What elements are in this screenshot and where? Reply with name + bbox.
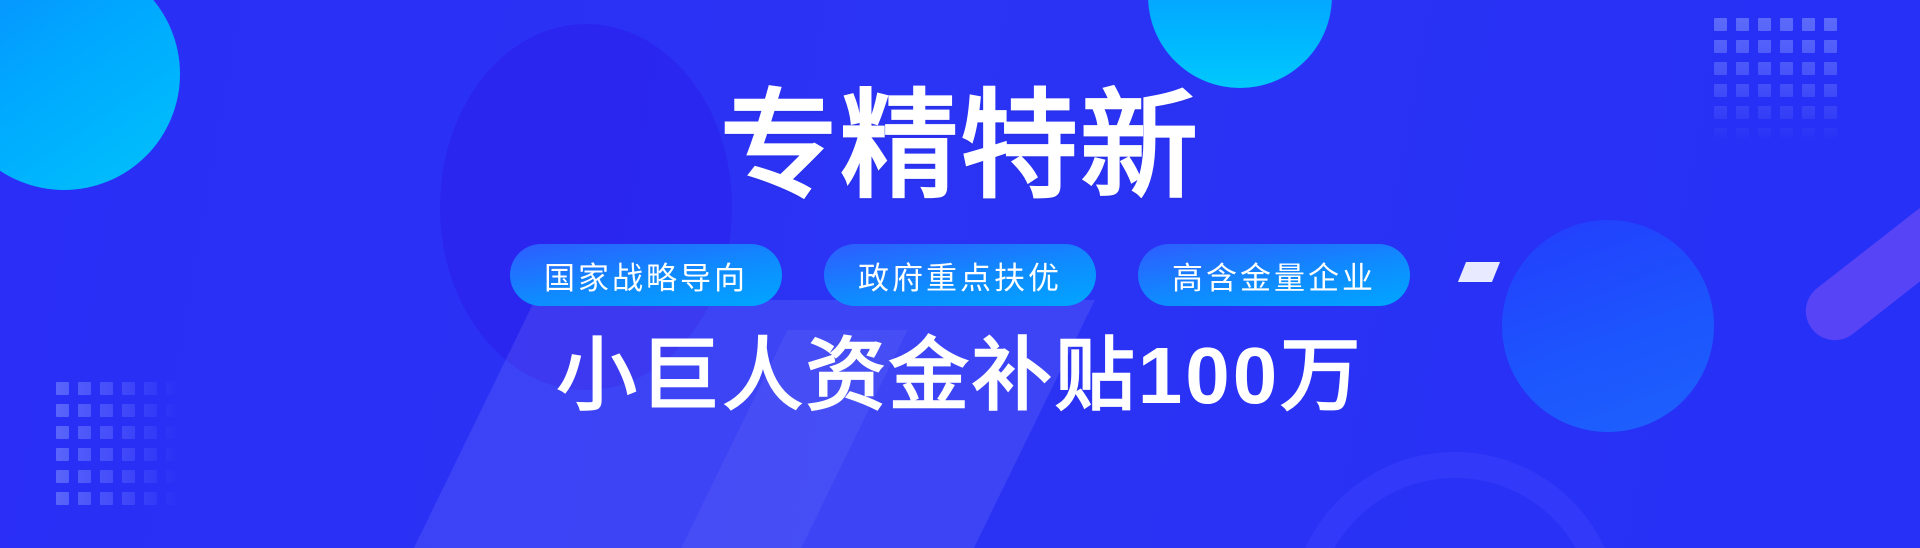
badge-label: 政府重点扶优: [858, 253, 1062, 298]
badge-high-value-enterprise[interactable]: 高含金量企业: [1138, 244, 1410, 306]
promo-banner: 专精特新 国家战略导向 政府重点扶优 高含金量企业 小巨人资金补贴100万: [0, 0, 1920, 548]
banner-subheadline: 小巨人资金补贴100万: [557, 336, 1363, 416]
banner-title: 专精特新: [720, 88, 1200, 206]
badge-label: 国家战略导向: [544, 253, 748, 298]
badge-national-strategy[interactable]: 国家战略导向: [510, 244, 782, 306]
banner-content: 专精特新 国家战略导向 政府重点扶优 高含金量企业 小巨人资金补贴100万: [0, 0, 1920, 548]
badge-label: 高含金量企业: [1172, 253, 1376, 298]
badge-government-support[interactable]: 政府重点扶优: [824, 244, 1096, 306]
badge-row: 国家战略导向 政府重点扶优 高含金量企业: [510, 244, 1410, 306]
